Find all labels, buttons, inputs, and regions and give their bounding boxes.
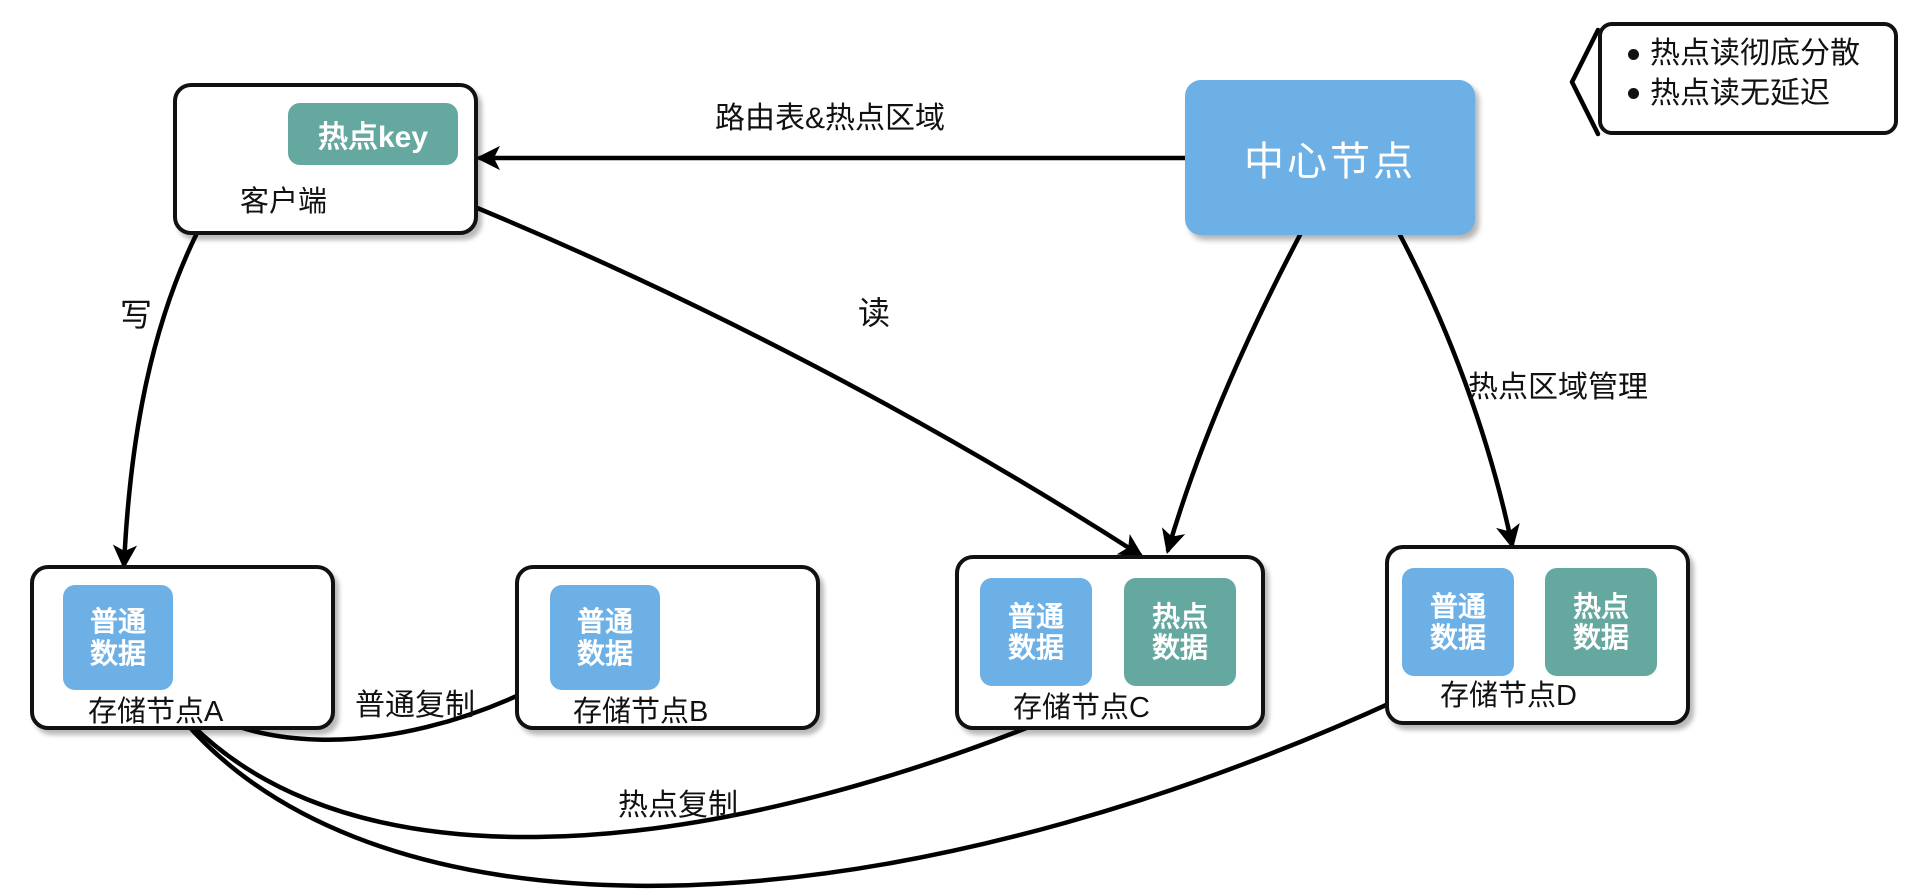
badge-line-1: 普通 [1430, 591, 1486, 622]
center-node[interactable]: 中心节点 [1185, 80, 1475, 235]
edge-label-hot-replication: 热点复制 [618, 780, 738, 824]
badge-line-1: 普通 [577, 606, 633, 637]
badge-line-1: 热点 [1573, 591, 1629, 622]
badge-line-2: 数据 [1430, 622, 1486, 653]
edge-read [470, 205, 1140, 555]
storage-node-a-caption: 存储节点A [88, 688, 223, 730]
edge-label-write: 写 [120, 290, 152, 336]
storage-node-c-normal-data-badge: 普通 数据 [980, 578, 1092, 686]
storage-node-d-normal-data-badge: 普通 数据 [1402, 568, 1514, 676]
callout-box: 热点读彻底分散 热点读无延迟 [1598, 22, 1898, 135]
edge-label-hot-region-management: 热点区域管理 [1468, 362, 1648, 406]
badge-line-2: 数据 [1008, 632, 1064, 663]
badge-line-2: 数据 [1573, 622, 1629, 653]
storage-node-a-normal-data-badge: 普通 数据 [63, 585, 173, 690]
edge-label-normal-replication: 普通复制 [355, 680, 475, 724]
storage-node-b-normal-data-badge: 普通 数据 [550, 585, 660, 690]
storage-node-b-caption: 存储节点B [573, 688, 708, 730]
edge-label-route-table: 路由表&热点区域 [715, 93, 945, 137]
callout-bullet-2: 热点读无延迟 [1650, 74, 1880, 114]
edge-center-to-node-c [1168, 235, 1300, 550]
client-hotkey-badge: 热点key [288, 103, 458, 165]
badge-line-2: 数据 [1152, 632, 1208, 663]
callout-bullet-1: 热点读彻底分散 [1650, 34, 1880, 74]
edge-label-read: 读 [858, 288, 890, 334]
storage-node-c-hot-data-badge: 热点 数据 [1124, 578, 1236, 686]
center-node-label: 中心节点 [1244, 129, 1416, 187]
diagram-canvas: 热点key 客户端 中心节点 热点读彻底分散 热点读无延迟 普通 数据 存储节点… [0, 0, 1920, 895]
badge-line-1: 热点 [1152, 601, 1208, 632]
edge-write [124, 235, 196, 565]
badge-line-1: 普通 [1008, 601, 1064, 632]
storage-node-c-caption: 存储节点C [1013, 684, 1150, 726]
callout-tail [1572, 30, 1598, 134]
client-node-caption: 客户端 [240, 178, 327, 220]
storage-node-d-caption: 存储节点D [1440, 672, 1577, 714]
badge-line-2: 数据 [577, 638, 633, 669]
badge-line-1: 普通 [90, 606, 146, 637]
storage-node-d-hot-data-badge: 热点 数据 [1545, 568, 1657, 676]
badge-line-2: 数据 [90, 638, 146, 669]
